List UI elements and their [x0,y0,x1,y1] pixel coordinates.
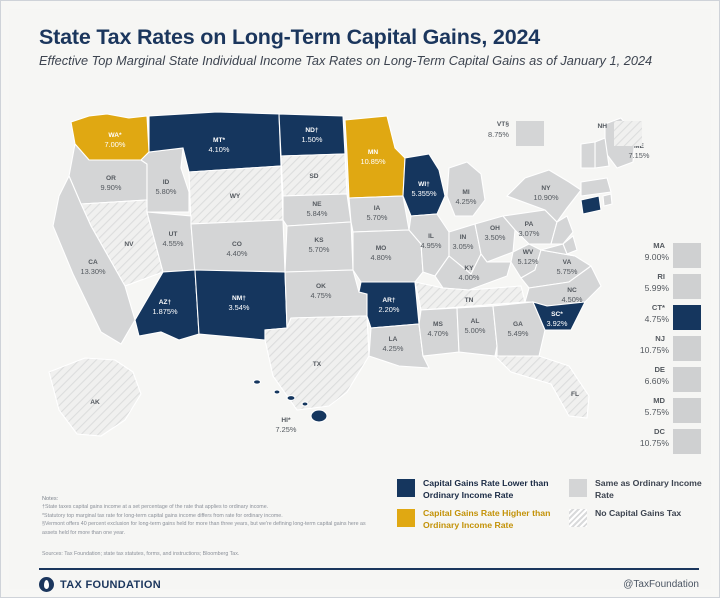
state-value-MT: 4.10% [209,145,230,154]
state-label-SC: SC* [551,311,563,318]
state-label-CA: CA [88,259,98,266]
state-label-OK: OK [316,283,326,290]
state-label-FL: FL [571,391,579,398]
brand-name: TAX FOUNDATION [60,579,161,591]
state-label-WI: WI† [418,181,430,188]
callout-value-DE: 6.60% [645,376,669,386]
sources-line: Sources: Tax Foundation; state tax statu… [42,550,382,558]
state-value-CO: 4.40% [227,249,248,258]
state-value-HI: 7.25% [276,425,297,434]
us-choropleth-map: WA* 7.00% OR 9.90% ID 5.80% MT* 4.10% ND… [29,104,709,464]
state-value-NM: 3.54% [229,303,250,312]
callout-swatch-NJ [673,336,701,361]
state-MA[interactable] [581,178,611,196]
state-value-SC: 3.92% [547,319,568,328]
state-value-ID: 5.80% [156,187,177,196]
state-label-VA: VA [563,259,572,266]
callout-label-MA: MA [653,241,665,250]
state-label-MN: MN [368,149,378,156]
legend-label-same: Same as Ordinary Income Rate [595,478,715,501]
footer-divider [39,568,699,570]
state-label-AL: AL [471,318,480,325]
note-section: §Vermont offers 40 percent exclusion for… [42,520,372,537]
state-label-CO: CO [232,241,242,248]
state-value-MN: 10.85% [360,157,385,166]
state-value-IA: 5.70% [367,213,388,222]
callout-label-RI: RI [657,272,665,281]
state-label-OR: OR [106,175,116,182]
callout-MD[interactable]: MD 5.75% [609,397,709,428]
legend-swatch-hatch [569,509,587,527]
state-label-MS: MS [433,321,443,328]
legend-label-higher: Capital Gains Rate Higher than Ordinary … [423,508,573,531]
callout-value-CT: 4.75% [645,314,669,324]
callout-CT[interactable]: CT* 4.75% [609,304,709,335]
state-value-CA: 13.30% [80,267,105,276]
state-value-UT: 4.55% [163,239,184,248]
state-label-KS: KS [314,237,324,244]
state-label-IN: IN [460,234,467,241]
callout-RI[interactable]: RI 5.99% [609,273,709,304]
tax-foundation-logo-icon [39,577,54,592]
callout-label-NH: NH [597,123,607,130]
state-value-MI: 4.25% [456,197,477,206]
state-value-WA: 7.00% [105,140,126,149]
callout-swatch-MD [673,398,701,423]
state-label-NC: NC [567,287,577,294]
note-dagger: †State taxes capital gains income at a s… [42,503,372,511]
callout-MA[interactable]: MA 9.00% [609,242,709,273]
callout-label-DE: DE [654,365,665,374]
state-label-NV: NV [124,241,134,248]
callout-state-column: MA 9.00% RI 5.99% CT* 4.75% NJ 10.75% DE… [609,242,709,459]
state-label-OH: OH [490,225,500,232]
state-value-OK: 4.75% [311,291,332,300]
state-label-KY: KY [464,265,474,272]
state-label-NE: NE [312,201,322,208]
state-VT[interactable] [581,142,595,168]
state-label-IL: IL [428,233,434,240]
callout-VT[interactable]: VT§ 8.75% [488,121,544,146]
state-label-AZ: AZ† [159,299,172,306]
state-value-NE: 5.84% [307,209,328,218]
legend-swatch-gold [397,509,415,527]
state-value-IN: 3.05% [453,242,474,251]
notes-block: Notes: †State taxes capital gains income… [42,495,372,537]
state-value-AZ: 1.875% [152,307,177,316]
state-label-MT: MT* [213,137,226,144]
state-label-WY: WY [230,193,241,200]
state-value-KS: 5.70% [309,245,330,254]
callout-swatch-MA [673,243,701,268]
page-subtitle: Effective Top Marginal State Individual … [39,53,679,69]
legend-label-none: No Capital Gains Tax [595,508,720,520]
legend-swatch-gray [569,479,587,497]
state-label-TN: TN [465,297,474,304]
state-label-IA: IA [374,205,381,212]
state-value-ME: 7.15% [629,151,650,160]
callout-label-CT: CT* [652,303,665,312]
page-title: State Tax Rates on Long-Term Capital Gai… [39,25,699,50]
state-value-NC: 4.50% [562,295,583,304]
state-value-OH: 3.50% [485,233,506,242]
callout-value-RI: 5.99% [645,283,669,293]
state-label-LA: LA [389,336,398,343]
state-label-NY: NY [541,185,551,192]
callout-swatch-DC [673,429,701,454]
state-label-WA: WA* [108,132,122,139]
state-label-GA: GA [513,321,523,328]
footer: TAX FOUNDATION @TaxFoundation [39,577,699,599]
state-value-VA: 5.75% [557,267,578,276]
state-AK[interactable] [49,358,141,436]
state-value-MS: 4.70% [428,329,449,338]
legend-label-lower: Capital Gains Rate Lower than Ordinary I… [423,478,573,501]
state-value-KY: 4.00% [459,273,480,282]
state-label-AR: AR† [382,297,396,304]
state-value-AL: 5.00% [465,326,486,335]
callout-swatch-DE [673,367,701,392]
infographic-canvas: State Tax Rates on Long-Term Capital Gai… [9,9,711,589]
callout-DC[interactable]: DC 10.75% [609,428,709,459]
state-value-WI: 5.355% [411,189,436,198]
callout-label-DC: DC [654,427,665,436]
infographic-frame: State Tax Rates on Long-Term Capital Gai… [0,0,720,598]
state-label-TX: TX [313,361,322,368]
state-label-AK: AK [90,399,100,406]
state-label-PA: PA [525,221,534,228]
state-value-MO: 4.80% [371,253,392,262]
callout-label-NJ: NJ [655,334,665,343]
state-label-WV: WV [523,249,534,256]
state-value-PA: 3.07% [519,229,540,238]
callout-value-NJ: 10.75% [640,345,669,355]
state-CT[interactable] [581,196,601,214]
callout-NJ[interactable]: NJ 10.75% [609,335,709,366]
map-legend: Capital Gains Rate Lower than Ordinary I… [397,479,707,541]
callout-value-MA: 9.00% [645,252,669,262]
brand-lockup[interactable]: TAX FOUNDATION [39,577,161,592]
state-label-MO: MO [376,245,387,252]
state-label-ND: ND† [305,127,319,134]
callout-DE[interactable]: DE 6.60% [609,366,709,397]
state-value-WV: 5.12% [518,257,539,266]
state-value-ND: 1.50% [302,135,323,144]
social-handle[interactable]: @TaxFoundation [623,579,699,590]
callout-swatch-RI [673,274,701,299]
state-FL[interactable] [495,356,589,418]
state-RI[interactable] [603,194,612,206]
state-label-HI: HI* [281,417,291,424]
state-label-SD: SD [309,173,318,180]
notes-heading: Notes: [42,495,372,503]
state-value-GA: 5.49% [508,329,529,338]
callout-swatch-CT [673,305,701,330]
state-label-ID: ID [163,179,170,186]
state-value-OR: 9.90% [101,183,122,192]
callout-value-DC: 10.75% [640,438,669,448]
legend-swatch-navy [397,479,415,497]
state-value-IL: 4.95% [421,241,442,250]
state-label-MI: MI [462,189,469,196]
state-label-UT: UT [169,231,178,238]
state-label-NM: NM† [232,295,246,302]
state-value-LA: 4.25% [383,344,404,353]
state-value-NY: 10.90% [533,193,558,202]
callout-label-MD: MD [653,396,665,405]
note-asterisk: *Statutory top marginal tax rate for lon… [42,512,372,520]
callout-value-VT: 8.75% [488,130,509,139]
state-value-AR: 2.20% [379,305,400,314]
callout-value-MD: 5.75% [645,407,669,417]
callout-label-VT: VT§ [497,121,509,128]
